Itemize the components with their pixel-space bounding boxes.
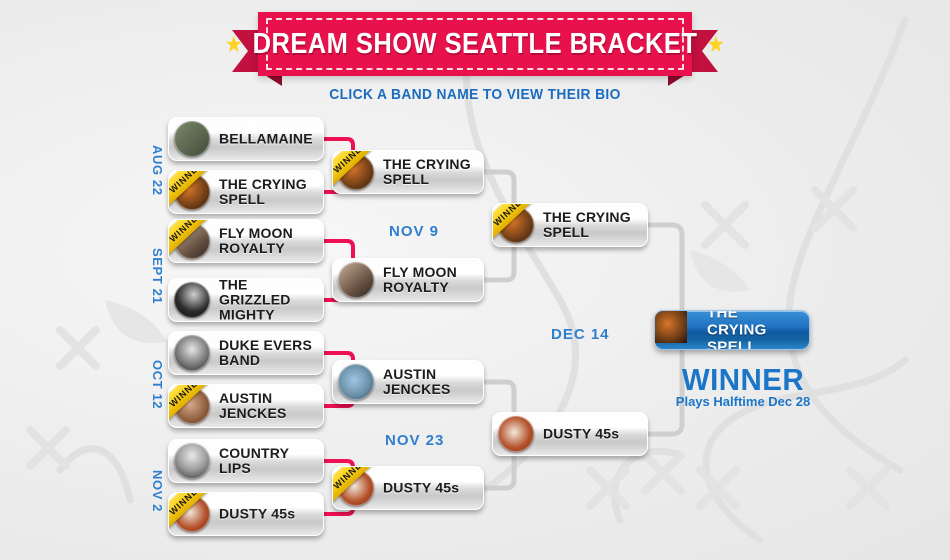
band-thumbnail (338, 262, 374, 298)
page-title: DREAM SHOW SEATTLE BRACKET (253, 28, 698, 61)
team-box-austin-jenckes-r1[interactable]: WINNER AUSTIN JENCKES (168, 384, 324, 428)
title-banner: ★ DREAM SHOW SEATTLE BRACKET ★ (232, 12, 718, 78)
team-box-fly-moon-royalty-r1[interactable]: WINNER FLY MOON ROYALTY (168, 219, 324, 263)
team-box-dusty-45s-r3[interactable]: DUSTY 45s (492, 412, 648, 456)
band-thumbnail (174, 335, 210, 371)
team-box-fly-moon-royalty-r2[interactable]: FLY MOON ROYALTY (332, 258, 484, 302)
team-name: BELLAMAINE (219, 131, 315, 146)
band-thumbnail (498, 416, 534, 452)
round-label-nov9: NOV 9 (389, 223, 439, 240)
banner-title-row: ★ DREAM SHOW SEATTLE BRACKET ★ (284, 12, 666, 76)
winner-subtext: Plays Halftime Dec 28 (660, 394, 826, 409)
team-box-bellamaine[interactable]: BELLAMAINE (168, 117, 324, 161)
final-winner-box[interactable]: THE CRYING SPELL (654, 310, 810, 350)
team-box-the-crying-spell-r1[interactable]: WINNER THE CRYING SPELL (168, 170, 324, 214)
team-name: COUNTRY LIPS (219, 446, 315, 476)
round-label-dec14: DEC 14 (551, 326, 610, 343)
team-name: THE CRYING SPELL (219, 177, 315, 207)
team-name: DUSTY 45s (383, 480, 475, 495)
band-thumbnail (174, 282, 210, 318)
team-box-the-grizzled-mighty[interactable]: THE GRIZZLED MIGHTY (168, 278, 324, 322)
subtitle-instruction: CLICK A BAND NAME TO VIEW THEIR BIO (38, 86, 912, 103)
ribbon-body: ★ DREAM SHOW SEATTLE BRACKET ★ (258, 12, 692, 76)
team-box-dusty-45s-r1[interactable]: WINNER DUSTY 45s (168, 492, 324, 536)
team-name: THE CRYING SPELL (543, 210, 639, 240)
round-label-nov23: NOV 23 (385, 432, 444, 449)
band-thumbnail (174, 443, 210, 479)
winner-heading: WINNER (664, 362, 822, 398)
team-name: FLY MOON ROYALTY (383, 265, 475, 295)
team-box-the-crying-spell-r2[interactable]: WINNER THE CRYING SPELL (332, 150, 484, 194)
date-label-sept21: SEPT 21 (150, 248, 165, 304)
team-box-the-crying-spell-r3[interactable]: WINNER THE CRYING SPELL (492, 203, 648, 247)
team-box-country-lips[interactable]: COUNTRY LIPS (168, 439, 324, 483)
star-right-icon: ★ (708, 32, 724, 57)
team-name: THE GRIZZLED MIGHTY (219, 278, 315, 322)
team-box-austin-jenckes-r2[interactable]: AUSTIN JENCKES (332, 360, 484, 404)
team-name: DUSTY 45s (219, 506, 315, 521)
team-name: THE CRYING SPELL (383, 157, 475, 187)
team-name: AUSTIN JENCKES (383, 367, 475, 397)
date-label-aug22: AUG 22 (150, 145, 165, 196)
bracket-page: ★ DREAM SHOW SEATTLE BRACKET ★ CLICK A B… (0, 0, 950, 560)
final-team-name: THE CRYING SPELL (707, 310, 799, 350)
band-thumbnail (174, 121, 210, 157)
team-box-dusty-45s-r2[interactable]: WINNER DUSTY 45s (332, 466, 484, 510)
star-left-icon: ★ (226, 32, 242, 57)
band-thumbnail (338, 364, 374, 400)
date-label-nov2: NOV 2 (150, 470, 165, 512)
team-name: DUKE EVERS BAND (219, 338, 315, 368)
team-name: FLY MOON ROYALTY (219, 226, 315, 256)
team-name: DUSTY 45s (543, 426, 639, 441)
team-box-duke-evers-band[interactable]: DUKE EVERS BAND (168, 331, 324, 375)
date-label-oct12: OCT 12 (150, 360, 165, 409)
band-thumbnail (655, 311, 687, 343)
team-name: AUSTIN JENCKES (219, 391, 315, 421)
